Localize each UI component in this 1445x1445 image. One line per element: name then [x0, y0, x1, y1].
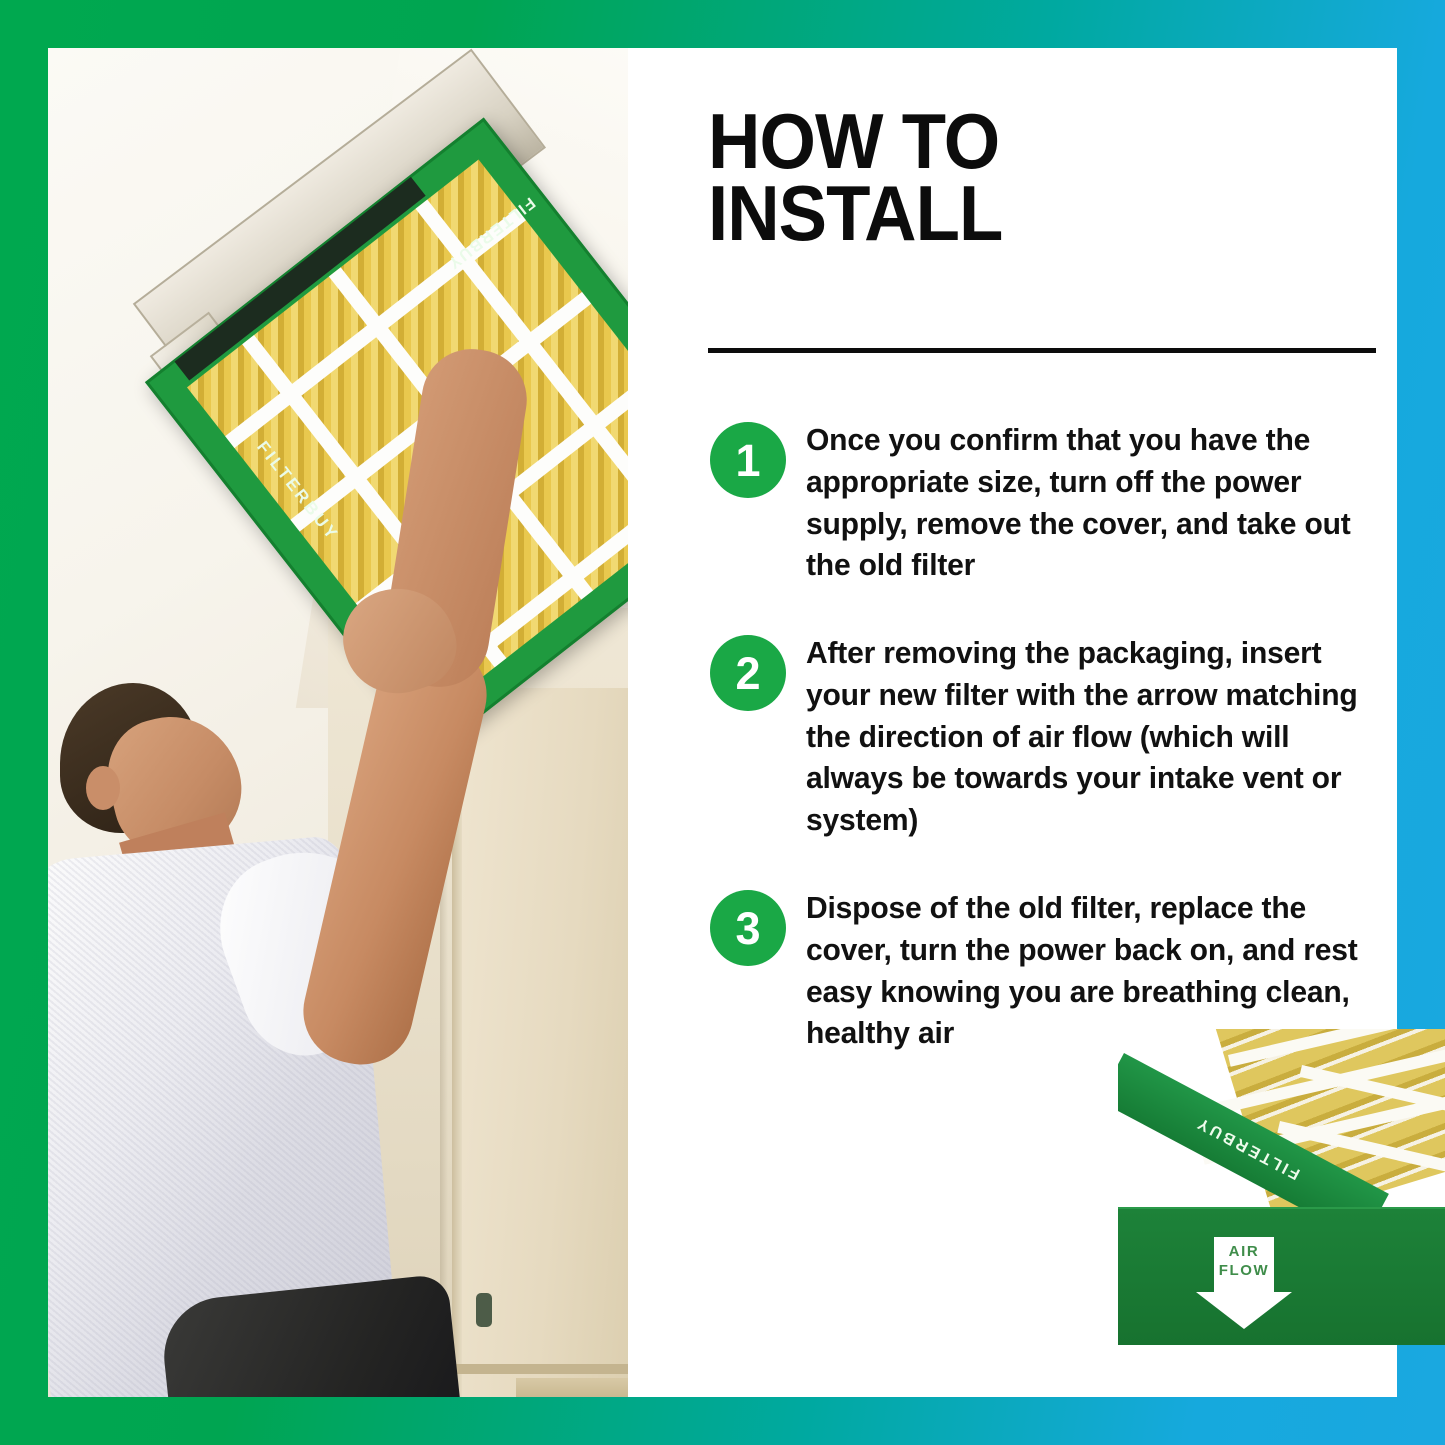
step-text-2: After removing the packaging, insert you… — [806, 633, 1388, 842]
title-divider — [708, 348, 1376, 353]
infographic-page: FILTERBUY FILTERBUY HOW TO — [0, 0, 1445, 1445]
air-flow-label: AIR FLOW — [1196, 1243, 1292, 1281]
person-installing-filter — [48, 648, 628, 1397]
air-flow-line-1: AIR — [1229, 1243, 1260, 1260]
arrow-head — [1196, 1292, 1292, 1329]
title-line-2: INSTALL — [708, 178, 1340, 250]
install-photo: FILTERBUY FILTERBUY — [48, 48, 628, 1397]
list-item: 2 After removing the packaging, insert y… — [660, 633, 1397, 842]
air-flow-line-2: FLOW — [1219, 1262, 1270, 1279]
list-item: 1 Once you confirm that you have the app… — [660, 420, 1397, 587]
air-flow-arrow-icon: AIR FLOW — [1196, 1237, 1292, 1329]
step-text-1: Once you confirm that you have the appro… — [806, 420, 1388, 587]
person-ear — [86, 766, 120, 810]
step-number-badge-2: 2 — [710, 635, 786, 711]
product-filter-photo: FILTERBUY AIR FLOW — [1118, 1029, 1445, 1345]
step-number-badge-3: 3 — [710, 890, 786, 966]
title-line-1: HOW TO — [708, 106, 1340, 178]
steps-list: 1 Once you confirm that you have the app… — [660, 420, 1397, 1101]
step-number-badge-1: 1 — [710, 422, 786, 498]
page-title: HOW TO INSTALL — [708, 106, 1340, 250]
